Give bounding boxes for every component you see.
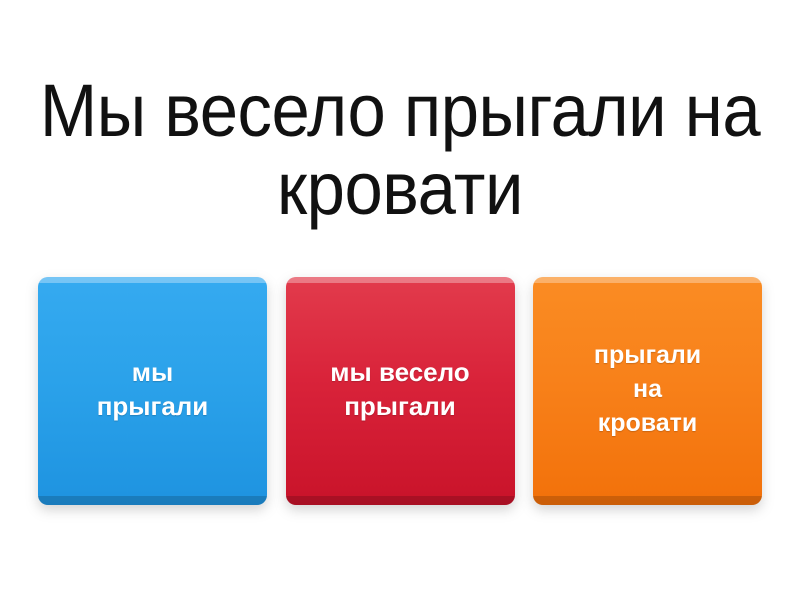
- answer-tiles: мы прыгали мы весело прыгали прыгали на …: [38, 277, 762, 505]
- answer-tile-2-label: мы весело прыгали: [330, 355, 469, 423]
- answer-tile-1-label: мы прыгали: [97, 355, 209, 423]
- quiz-screen: Мы весело прыгали на кровати мы прыгали …: [0, 0, 800, 600]
- answer-tile-2[interactable]: мы весело прыгали: [286, 277, 515, 505]
- answer-tile-3[interactable]: прыгали на кровати: [533, 277, 762, 505]
- question-area: Мы весело прыгали на кровати: [0, 60, 800, 240]
- answer-tile-1[interactable]: мы прыгали: [38, 277, 267, 505]
- answer-tile-3-label: прыгали на кровати: [594, 338, 701, 440]
- question-text: Мы весело прыгали на кровати: [37, 72, 762, 228]
